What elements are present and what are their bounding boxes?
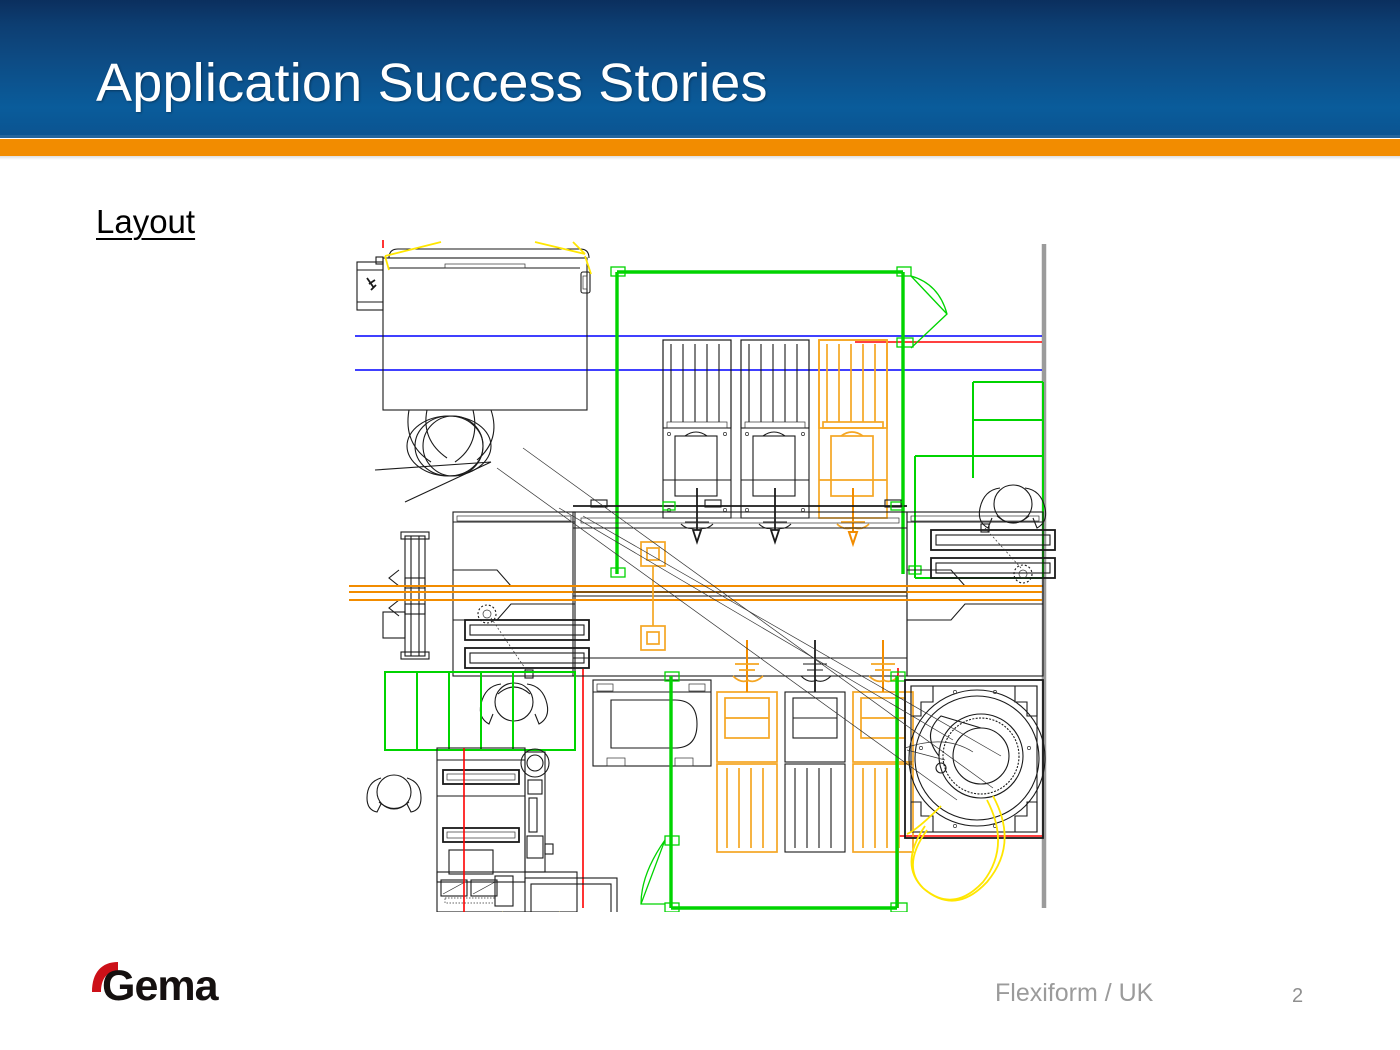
slide-root: Application Success Stories Layout .k { … bbox=[0, 0, 1400, 1050]
powder-centre-station bbox=[437, 748, 617, 912]
operator-station-right bbox=[931, 485, 1055, 583]
operator-station-left bbox=[465, 605, 589, 724]
wash-tank-module bbox=[593, 680, 711, 766]
powder-booth-enclosure bbox=[383, 249, 590, 410]
plant-layout-cad-drawing: .k { fill:none; stroke:#1a1a1a; stroke-w… bbox=[345, 240, 1060, 912]
green-enclosure-left-lower bbox=[385, 672, 575, 750]
green-enclosure-right bbox=[909, 382, 1043, 578]
section-heading-layout: Layout bbox=[96, 203, 195, 241]
logo-wordmark: Gema bbox=[102, 962, 218, 1010]
page-title: Application Success Stories bbox=[96, 52, 768, 114]
control-panel bbox=[357, 257, 383, 310]
page-number: 2 bbox=[1292, 985, 1303, 1008]
operator-bottom-left bbox=[367, 775, 421, 812]
green-safety-enclosure-lower bbox=[641, 672, 907, 912]
cyclone-recovery-unit bbox=[375, 410, 494, 502]
footer-customer-label: Flexiform / UK bbox=[995, 979, 1153, 1008]
accent-bar bbox=[0, 139, 1400, 156]
gema-logo: Gema bbox=[88, 962, 228, 1018]
conveyor-support-bracket bbox=[383, 532, 429, 659]
lower-cabin-orange-1 bbox=[717, 640, 777, 852]
accent-bar-shadow bbox=[0, 156, 1400, 160]
curing-oven bbox=[573, 512, 907, 676]
conveyor-hangers-top bbox=[573, 500, 907, 507]
lower-cabin-black bbox=[785, 640, 845, 852]
oven-exit-module bbox=[907, 512, 1043, 676]
